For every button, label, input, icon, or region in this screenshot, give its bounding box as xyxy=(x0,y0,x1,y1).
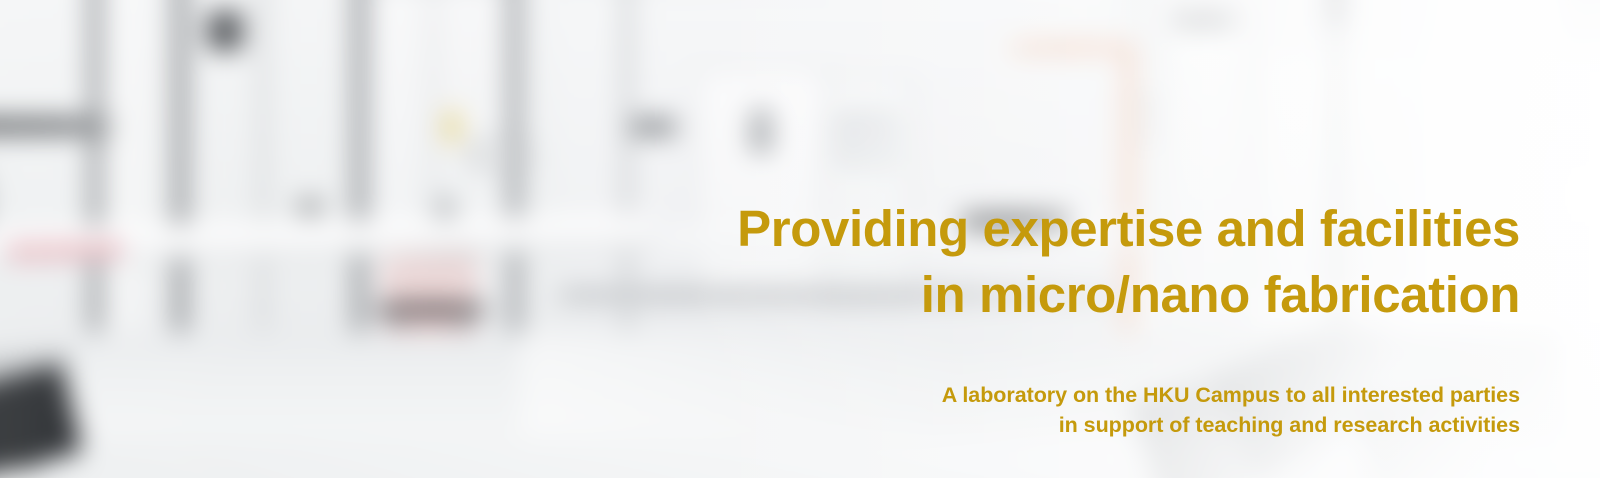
hero-text-block: Providing expertise and facilities in mi… xyxy=(640,196,1520,440)
hero-headline: Providing expertise and facilities in mi… xyxy=(640,196,1520,328)
hero-subheadline-line-2: in support of teaching and research acti… xyxy=(640,410,1520,440)
hero-headline-line-2: in micro/nano fabrication xyxy=(640,262,1520,328)
hero-headline-line-1: Providing expertise and facilities xyxy=(640,196,1520,262)
hero-subheadline-line-1: A laboratory on the HKU Campus to all in… xyxy=(640,380,1520,410)
hero-banner: Providing expertise and facilities in mi… xyxy=(0,0,1600,478)
hero-subheadline: A laboratory on the HKU Campus to all in… xyxy=(640,380,1520,440)
